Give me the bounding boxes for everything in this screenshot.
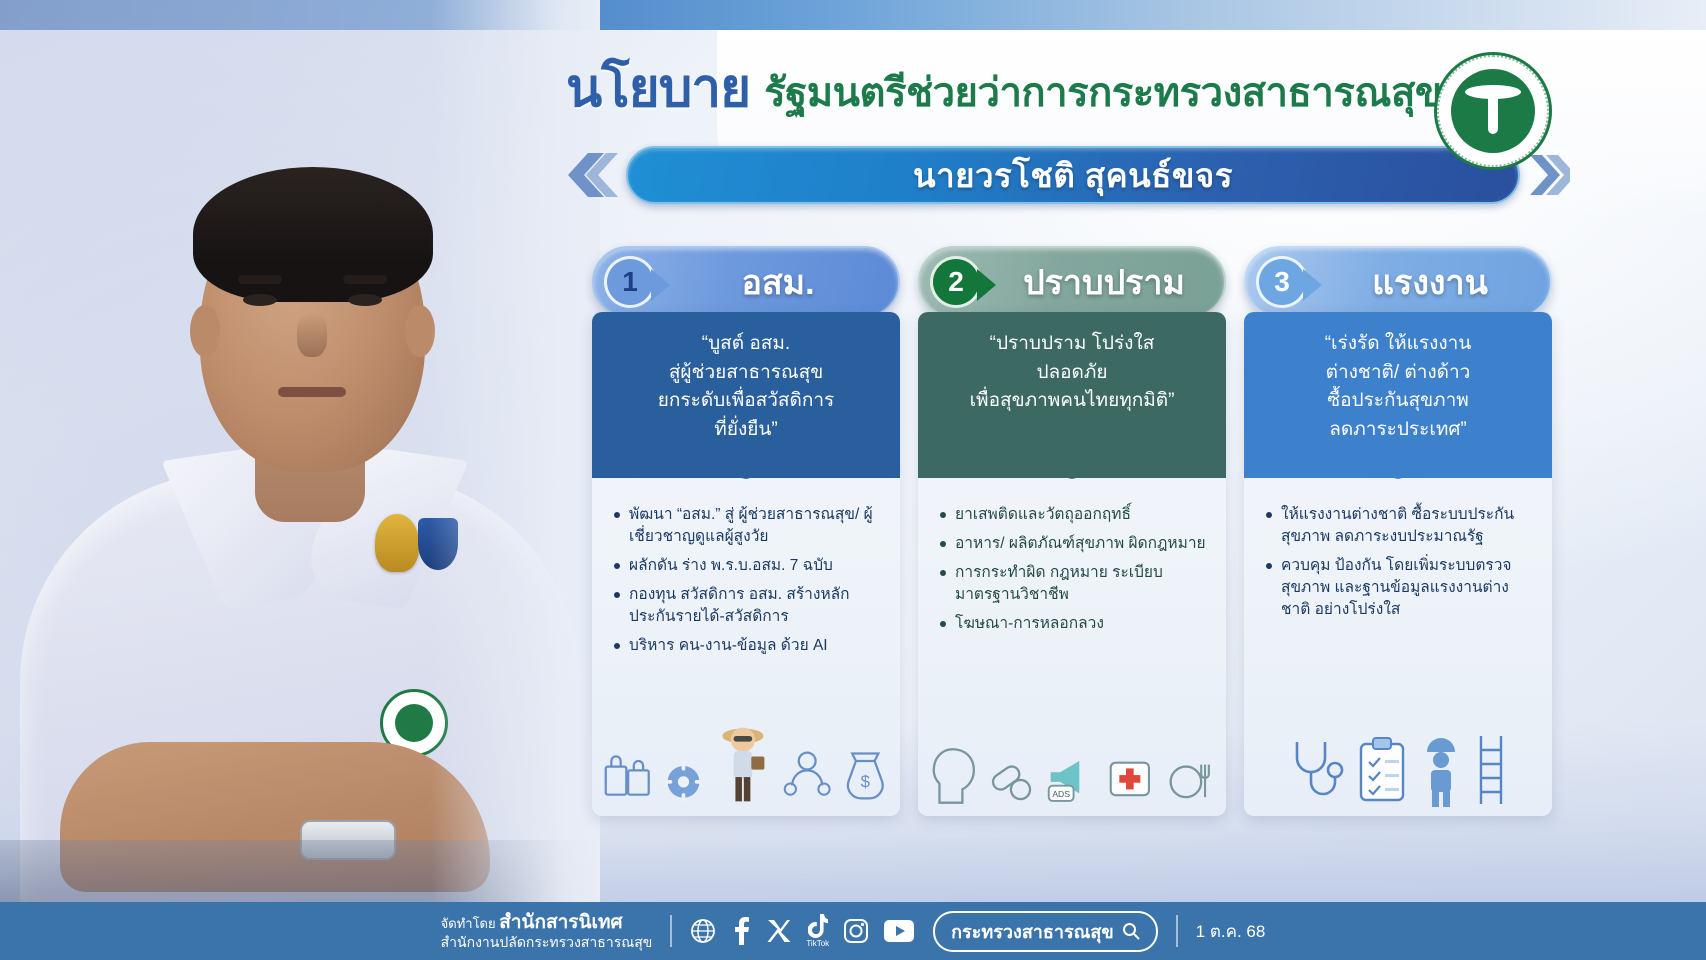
list-item: ผลักดัน ร่าง พ.ร.บ.อสม. 7 ฉบับ — [612, 555, 882, 577]
portrait-gold-insignia — [375, 514, 419, 572]
card-3-body: “เร่งรัด ให้แรงงาน ต่างชาติ/ ต่างด้าว ซื… — [1244, 312, 1552, 816]
policy-card-1[interactable]: 1 อสม. “บูสต์ อสม. สู่ผู้ช่วยสาธารณสุข ย… — [592, 246, 900, 816]
page-title: นโยบาย รัฐมนตรีช่วยว่าการกระทรวงสาธารณสุ… — [560, 46, 1570, 130]
x-twitter-icon[interactable] — [766, 918, 792, 944]
website-globe-icon[interactable] — [690, 918, 716, 944]
people-network-icon — [781, 744, 833, 808]
card-2-arrow-icon — [977, 269, 996, 301]
card-3-title: แรงงาน — [1308, 255, 1550, 309]
svg-text:$: $ — [861, 772, 871, 791]
double-chevron-left-icon — [560, 149, 620, 201]
portrait-eyebrow-left — [238, 275, 282, 284]
svg-text:ADS: ADS — [1053, 789, 1071, 799]
card-3-icon-strip — [1244, 704, 1552, 816]
footer-divider-1 — [670, 915, 672, 947]
village-health-volunteer-icon — [713, 720, 773, 808]
plate-utensils-icon — [1163, 750, 1217, 808]
card-1-number: 1 — [622, 268, 638, 296]
list-item: บริหาร คน-งาน-ข้อมูล ด้วย AI — [612, 635, 882, 657]
youtube-icon[interactable] — [883, 919, 915, 943]
portrait-hair — [193, 167, 433, 302]
list-item: โฆษณา-การหลอกลวง — [938, 613, 1208, 635]
card-3-bullets: ให้แรงงานต่างชาติ ซื้อระบบประกันสุขภาพ ล… — [1244, 478, 1552, 634]
header: นโยบาย รัฐมนตรีช่วยว่าการกระทรวงสาธารณสุ… — [560, 46, 1570, 226]
card-2-quote-line-1: “ปราบปราม โปร่งใส — [934, 330, 1210, 359]
card-2-title: ปราบปราม — [982, 255, 1224, 309]
card-3-arrow-icon — [1303, 269, 1322, 301]
publication-date: 1 ต.ค. 68 — [1196, 918, 1266, 945]
search-label: กระทรวงสาธารณสุข — [951, 917, 1114, 946]
portrait-nose — [297, 313, 327, 357]
head-profile-icon — [928, 742, 980, 808]
card-1-bullets: พัฒนา “อสม.” สู่ ผู้ช่วยสาธารณสุข/ ผู้เช… — [592, 478, 900, 670]
card-3-quote-notch — [1244, 445, 1552, 479]
footer-social-links: TikTok — [690, 914, 915, 948]
card-2-quote-notch — [918, 445, 1226, 479]
money-bag-icon: $ — [841, 742, 890, 808]
search-icon — [1122, 922, 1140, 940]
card-1-quote: “บูสต์ อสม. สู่ผู้ช่วยสาธารณสุข ยกระดับเ… — [592, 312, 900, 478]
search-moph-button[interactable]: กระทรวงสาธารณสุข — [933, 911, 1158, 952]
footer-produced-by-prefix: จัดทำโดย — [441, 916, 496, 931]
card-2-number: 2 — [948, 268, 964, 296]
footer-office-line: สำนักงานปลัดกระทรวงสาธารณสุข — [441, 934, 653, 950]
policy-cards: 1 อสม. “บูสต์ อสม. สู่ผู้ช่วยสาธารณสุข ย… — [592, 246, 1552, 816]
footer-bar: จัดทำโดย สำนักสารนิเทศ สำนักงานปลัดกระทร… — [0, 902, 1706, 960]
card-3-header: 3 แรงงาน — [1244, 246, 1552, 318]
list-item: ควบคุม ป้องกัน โดยเพิ่มระบบตรวจสุขภาพ แล… — [1264, 555, 1534, 621]
instagram-icon[interactable] — [843, 918, 869, 944]
card-2-icon-strip: ADS — [918, 704, 1226, 816]
card-2-body: “ปราบปราม โปร่งใส ปลอดภัย เพื่อสุขภาพคนไ… — [918, 312, 1226, 816]
portrait-eye-right — [348, 294, 382, 306]
facebook-icon[interactable] — [730, 917, 752, 945]
card-3-quote-line-3: ซื้อประกันสุขภาพ — [1260, 387, 1536, 416]
portrait-mouth — [278, 387, 346, 397]
clipboard-checklist-icon — [1353, 734, 1411, 808]
card-1-quote-notch — [592, 445, 900, 479]
minister-portrait-photo — [0, 0, 600, 902]
minister-name-text: นายวรโชติ สุคนธ์ขจร — [913, 149, 1233, 202]
card-3-quote-line-2: ต่างชาติ/ ต่างด้าว — [1260, 359, 1536, 388]
card-2-quote: “ปราบปราม โปร่งใส ปลอดภัย เพื่อสุขภาพคนไ… — [918, 312, 1226, 478]
tiktok-label: TikTok — [806, 939, 829, 948]
infographic-canvas: นโยบาย รัฐมนตรีช่วยว่าการกระทรวงสาธารณสุ… — [0, 0, 1706, 960]
megaphone-ads-icon: ADS — [1043, 750, 1097, 808]
first-aid-icon — [1105, 746, 1155, 808]
card-1-quote-line-1: “บูสต์ อสม. — [608, 330, 884, 359]
portrait-eyebrow-right — [343, 275, 387, 284]
card-1-quote-line-3: ยกระดับเพื่อสวัสดิการ — [608, 387, 884, 416]
card-2-quote-line-3: เพื่อสุขภาพคนไทยทุกมิติ” — [934, 387, 1210, 416]
policy-card-3[interactable]: 3 แรงงาน “เร่งรัด ให้แรงงาน ต่างชาติ/ ต่… — [1244, 246, 1552, 816]
footer-producer-name: สำนักสารนิเทศ — [499, 912, 622, 933]
ministry-of-public-health-seal-icon — [1434, 52, 1552, 170]
minister-name-banner: นายวรโชติ สุคนธ์ขจร — [560, 146, 1570, 204]
card-3-number: 3 — [1274, 268, 1290, 296]
card-1-title: อสม. — [656, 255, 898, 309]
card-1-body: “บูสต์ อสม. สู่ผู้ช่วยสาธารณสุข ยกระดับเ… — [592, 312, 900, 816]
list-item: ยาเสพติดและวัตถุออกฤทธิ์ — [938, 504, 1208, 526]
gear-icon — [662, 752, 705, 808]
shopping-bags-icon — [602, 744, 654, 808]
portrait-eye-left — [243, 294, 277, 306]
list-item: ให้แรงงานต่างชาติ ซื้อระบบประกันสุขภาพ ล… — [1264, 504, 1534, 548]
card-1-arrow-icon — [651, 269, 670, 301]
footer-producer-line-1: จัดทำโดย สำนักสารนิเทศ — [441, 912, 653, 934]
card-1-quote-line-4: ที่ยั่งยืน” — [608, 416, 884, 445]
card-2-bullets: ยาเสพติดและวัตถุออกฤทธิ์ อาหาร/ ผลิตภัณฑ… — [918, 478, 1226, 648]
card-2-quote-line-2: ปลอดภัย — [934, 359, 1210, 388]
double-chevron-right-icon — [1526, 149, 1570, 201]
minister-name-pill: นายวรโชติ สุคนธ์ขจร — [626, 146, 1520, 204]
card-2-header: 2 ปราบปราม — [918, 246, 1226, 318]
pills-icon — [988, 750, 1036, 808]
list-item: กองทุน สวัสดิการ อสม. สร้างหลักประกันราย… — [612, 584, 882, 628]
card-1-number-badge: 1 — [604, 256, 656, 308]
stethoscope-icon — [1285, 734, 1345, 808]
list-item: การกระทำผิด กฎหมาย ระเบียบ มาตรฐานวิชาชี… — [938, 562, 1208, 606]
list-item: พัฒนา “อสม.” สู่ ผู้ช่วยสาธารณสุข/ ผู้เช… — [612, 504, 882, 548]
ladder-icon — [1471, 732, 1511, 808]
tiktok-icon[interactable]: TikTok — [806, 914, 829, 948]
title-subject: รัฐมนตรีช่วยว่าการกระทรวงสาธารณสุข — [764, 60, 1442, 124]
card-3-quote-line-1: “เร่งรัด ให้แรงงาน — [1260, 330, 1536, 359]
footer-divider-2 — [1176, 915, 1178, 947]
title-policy-word: นโยบาย — [566, 46, 750, 130]
portrait-ear-left — [190, 305, 220, 357]
card-2-number-badge: 2 — [930, 256, 982, 308]
construction-worker-icon — [1419, 732, 1463, 808]
list-item: อาหาร/ ผลิตภัณฑ์สุขภาพ ผิดกฎหมาย — [938, 533, 1208, 555]
card-3-number-badge: 3 — [1256, 256, 1308, 308]
footer-producer: จัดทำโดย สำนักสารนิเทศ สำนักงานปลัดกระทร… — [441, 912, 653, 950]
card-3-quote: “เร่งรัด ให้แรงงาน ต่างชาติ/ ต่างด้าว ซื… — [1244, 312, 1552, 478]
card-3-quote-line-4: ลดภาระประเทศ” — [1260, 416, 1536, 445]
card-1-quote-line-2: สู่ผู้ช่วยสาธารณสุข — [608, 359, 884, 388]
card-1-header: 1 อสม. — [592, 246, 900, 318]
seal-caduceus-icon — [1451, 69, 1535, 153]
card-1-icon-strip: $ — [592, 704, 900, 816]
policy-card-2[interactable]: 2 ปราบปราม “ปราบปราม โปร่งใส ปลอดภัย เพื… — [918, 246, 1226, 816]
